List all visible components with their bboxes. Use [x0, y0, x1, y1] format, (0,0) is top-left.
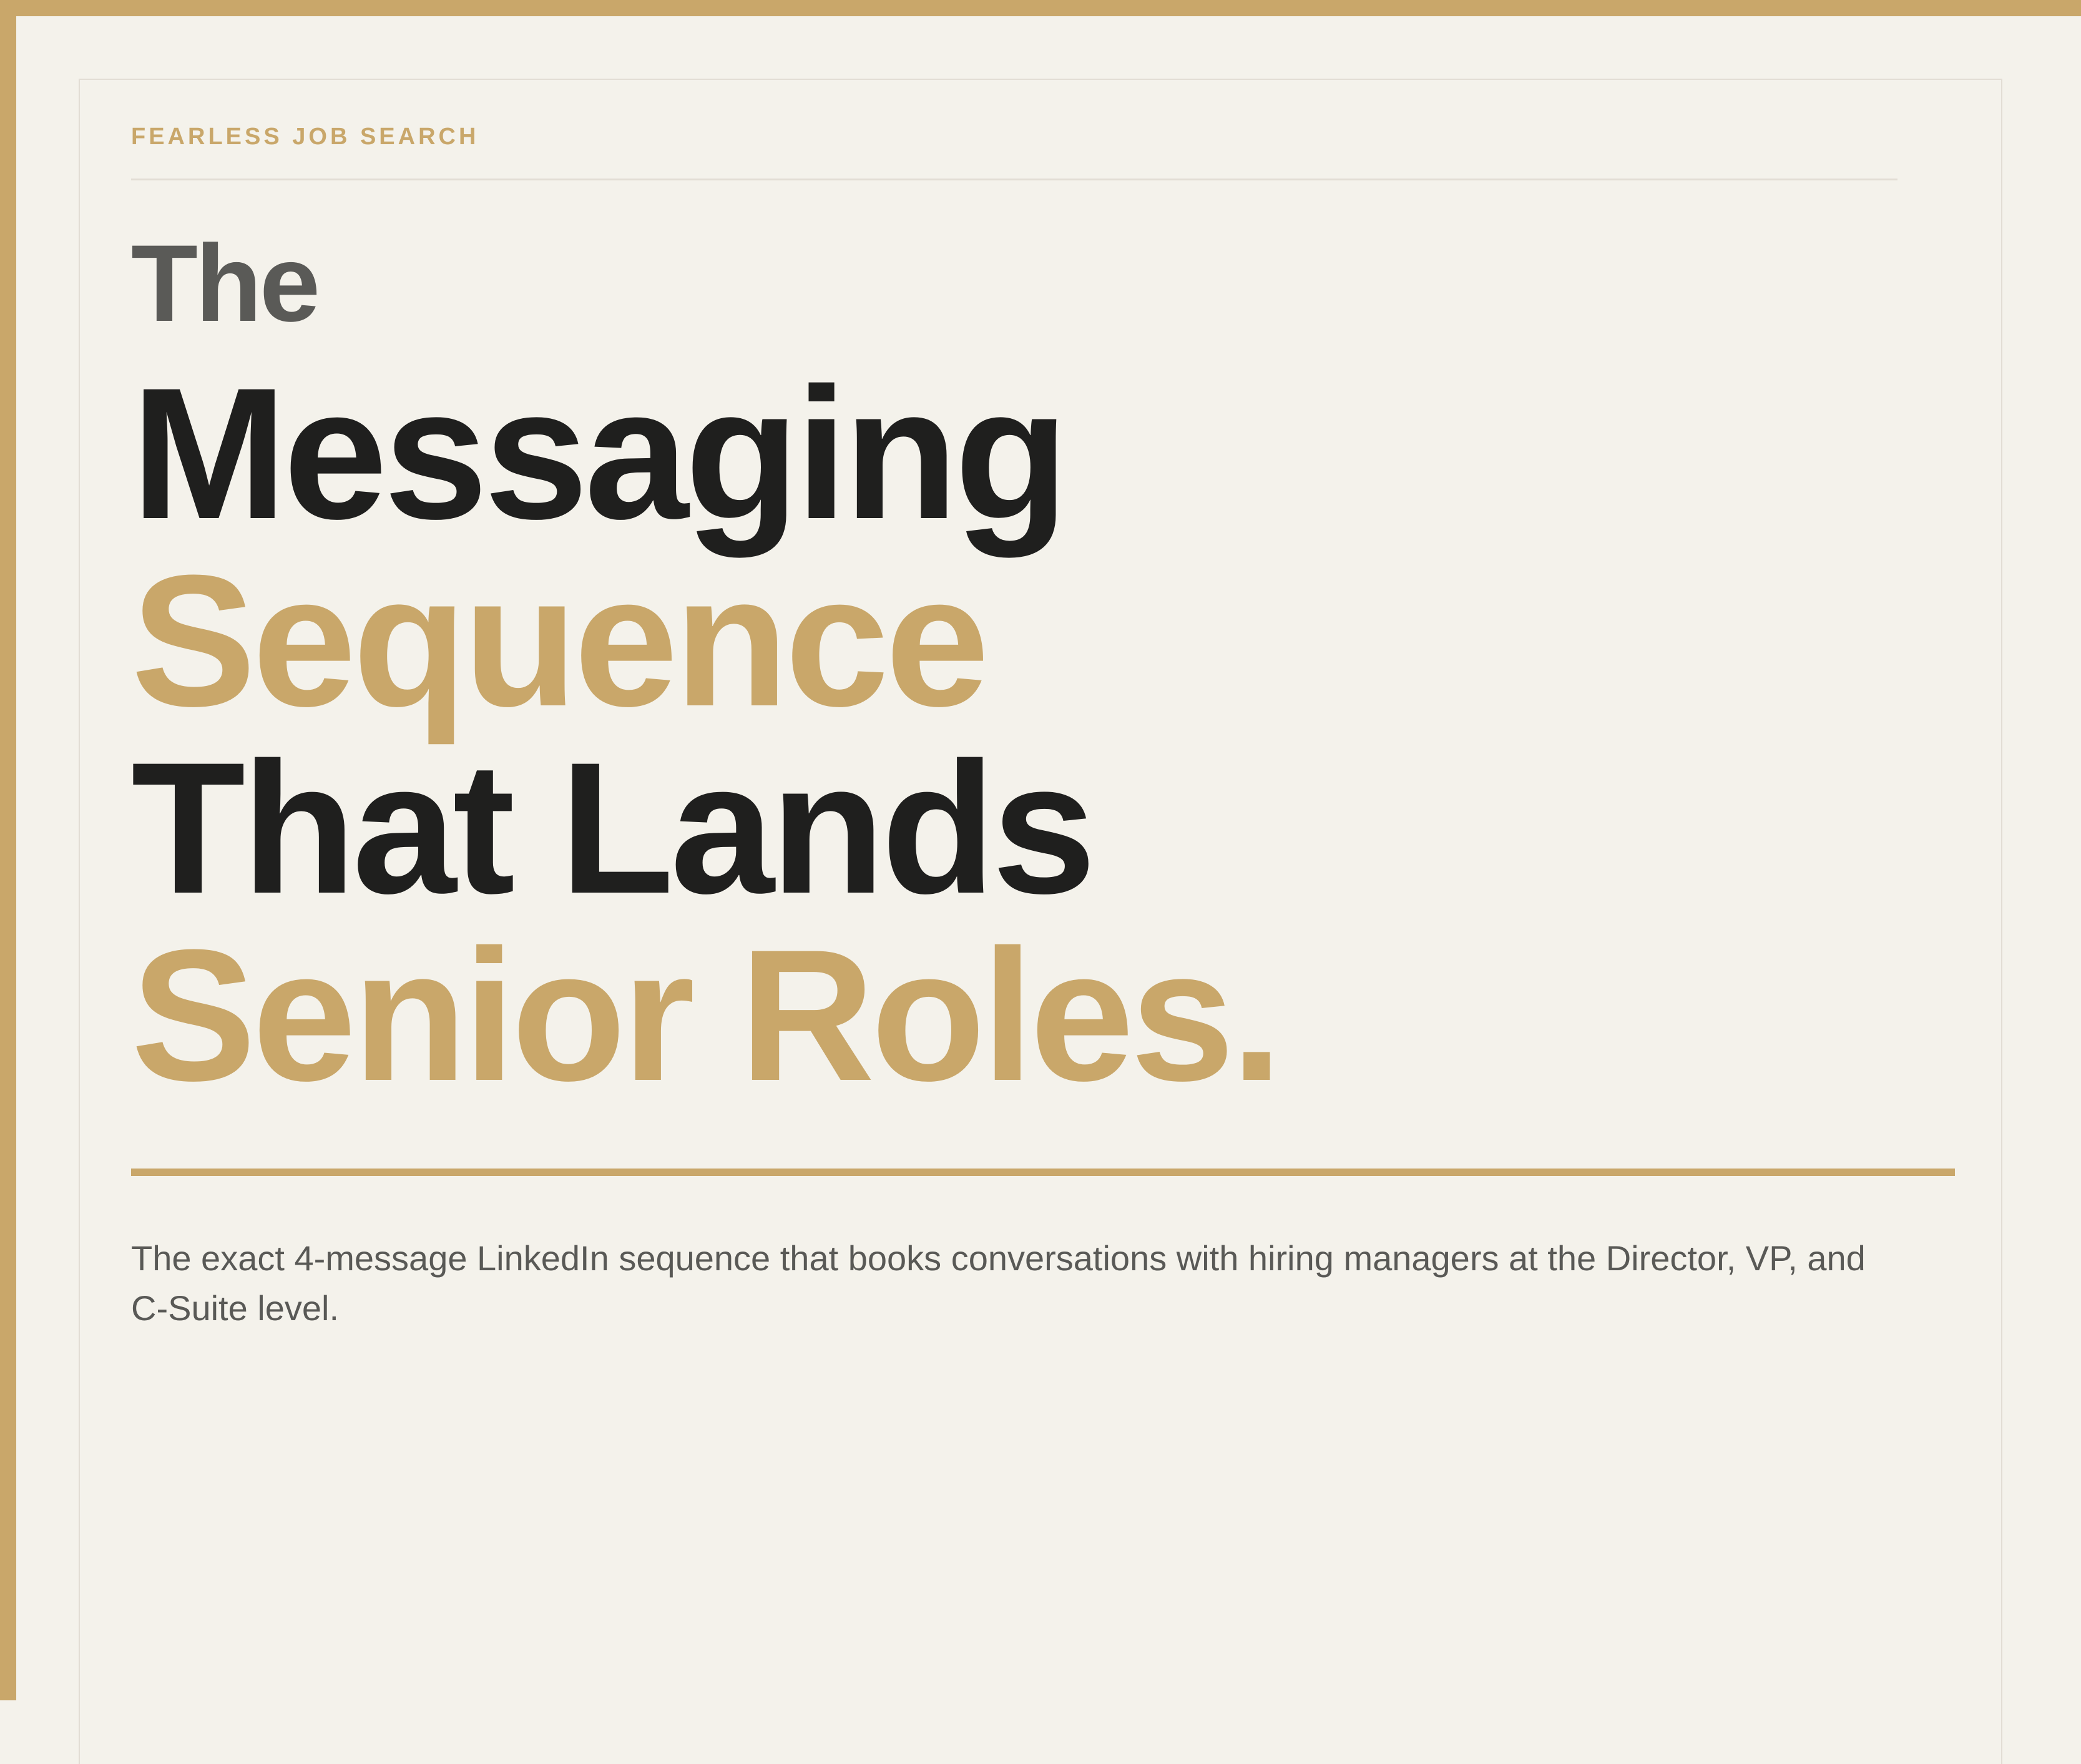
headline-line-2: Messaging	[131, 360, 1950, 547]
headline-line-3: Sequence	[131, 547, 1950, 734]
page-title: The Messaging Sequence That Lands Senior…	[131, 229, 1950, 1109]
subtitle-text: The exact 4-message LinkedIn sequence th…	[131, 1233, 1897, 1333]
eyebrow-divider	[131, 179, 1897, 180]
page-frame: FEARLESS JOB SEARCH The Messaging Sequen…	[0, 0, 2081, 1700]
headline-line-5: Senior Roles.	[131, 921, 1950, 1109]
eyebrow-label: FEARLESS JOB SEARCH	[131, 125, 1950, 149]
frame-accent-bar-top	[0, 0, 2081, 16]
headline-line-4: That Lands	[131, 734, 1950, 921]
accent-divider	[131, 1169, 1955, 1176]
hero-card: FEARLESS JOB SEARCH The Messaging Sequen…	[79, 79, 2002, 1764]
frame-accent-bar-left	[0, 0, 16, 1700]
headline-line-1: The	[131, 229, 1950, 338]
